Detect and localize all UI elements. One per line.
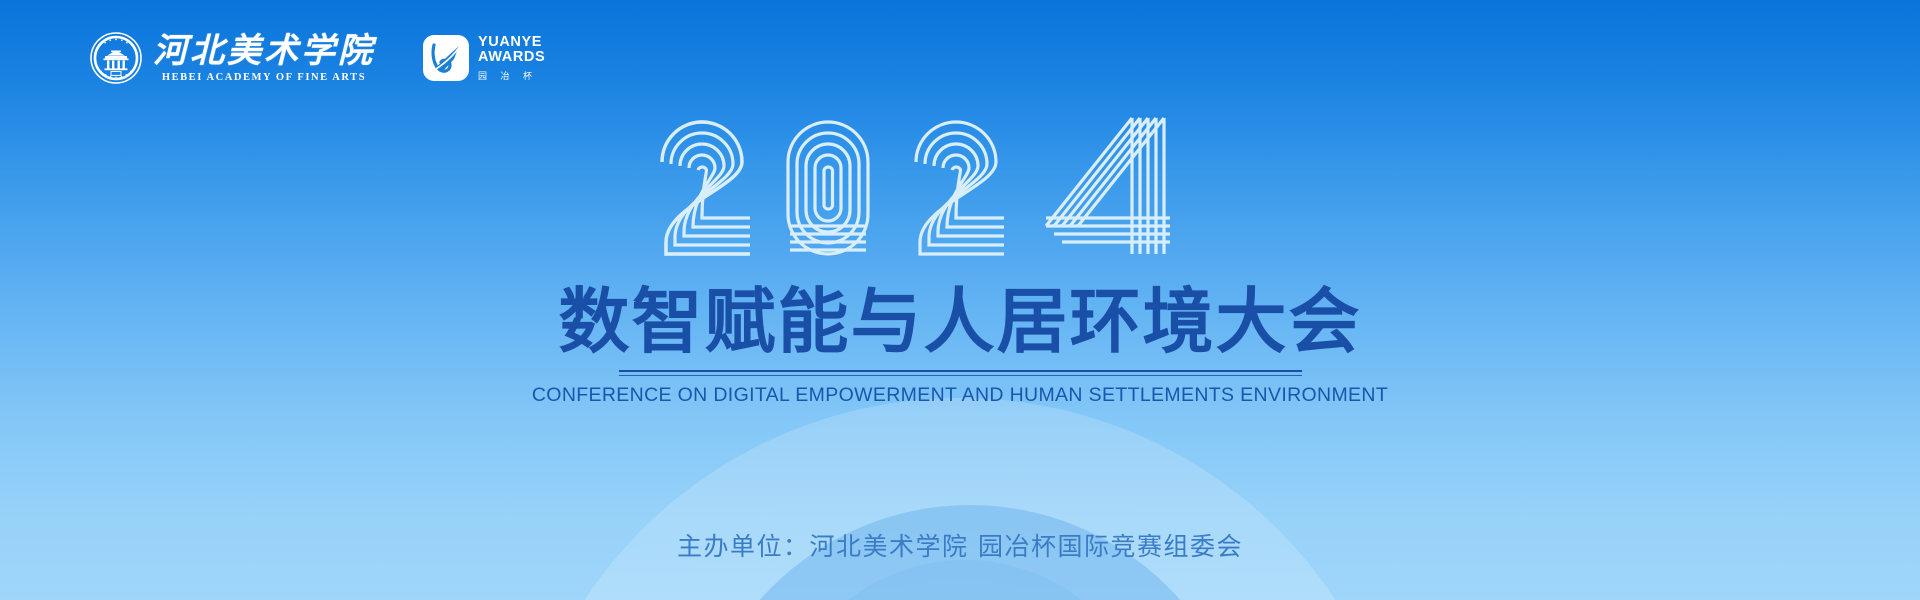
hebei-wordmark: 河北美术学院 HEBEI ACADEMY OF FINE ARTS [153,34,375,83]
title-block: 数智赋能与人居环境大会 CONFERENCE ON DIGITAL EMPOWE… [0,282,1920,407]
title-divider [619,370,1302,376]
conference-banner: 河北美术学院 HEBEI ACADEMY OF FINE ARTS YUANYE… [0,0,1920,600]
yuanye-leaf-icon [423,35,469,81]
hebei-name-en: HEBEI ACADEMY OF FINE ARTS [162,72,366,83]
organizer-line: 主办单位：河北美术学院 园冶杯国际竞赛组委会 [0,532,1920,562]
yuanye-wordmark: YUANYE AWARDS 园 冶 杯 [478,35,545,82]
divider-line-bottom [619,375,1302,376]
logo-bar: 河北美术学院 HEBEI ACADEMY OF FINE ARTS YUANYE… [90,32,545,84]
year-graphic [0,108,1920,268]
logo-yuanye-awards[interactable]: YUANYE AWARDS 园 冶 杯 [423,35,545,82]
year-2024-striped [640,108,1280,268]
divider-line-top [619,370,1302,372]
logo-hebei-academy[interactable]: 河北美术学院 HEBEI ACADEMY OF FINE ARTS [90,32,375,84]
yuanye-line-2: AWARDS [478,50,545,66]
page-title: 数智赋能与人居环境大会 [558,282,1361,362]
yuanye-name-cn: 园 冶 杯 [478,69,545,82]
background-arc-inner-small [775,560,1155,600]
page-subtitle: CONFERENCE ON DIGITAL EMPOWERMENT AND HU… [532,384,1388,407]
yuanye-line-1: YUANYE [478,35,545,51]
academy-seal-icon [90,32,142,84]
background-arc-outer [510,398,1410,600]
hebei-name-cn: 河北美术学院 [153,34,375,68]
